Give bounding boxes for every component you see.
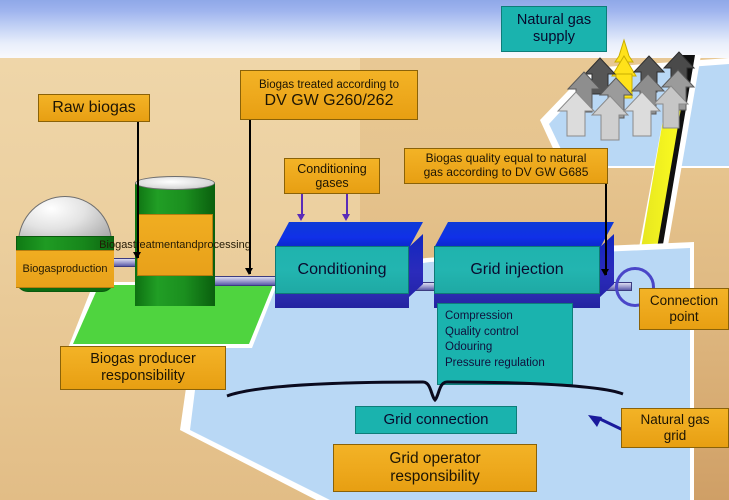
label-line-2: point [669,309,698,325]
label-raw-biogas: Raw biogas [38,94,150,122]
label-line-1: Connection [650,293,718,309]
label-line-1: Biogas producer [90,351,196,368]
biogas-treatment-line1: Biogas [99,239,133,252]
label-line-2: responsibility [390,468,480,486]
function-item: Compression [445,309,572,325]
label-conditioning-gases: Conditioning gases [284,158,380,194]
function-item: Quality control [445,325,572,341]
biogas-treatment-line3: and [179,239,197,252]
label-natural-gas-grid: Natural gas grid [621,408,729,448]
label-line-2: gas according to DV GW G685 [424,166,589,180]
biogas-production-label: Biogas production [16,250,114,288]
label-line-1: Biogas quality equal to natural [426,152,587,166]
function-item: Odouring [445,340,572,356]
label-grid-connection: Grid connection [355,406,517,434]
connector-biogas-quality [605,183,607,275]
label-connection-point: Connection point [639,288,729,330]
box-bottom-face [275,292,409,308]
box-top-face [275,222,423,248]
conditioning-unit: Conditioning [275,222,423,312]
label-line-2: supply [533,29,575,46]
arrow-down-icon [297,214,305,221]
label-line-2: responsibility [101,368,185,385]
label-line-2: gases [315,176,348,190]
label-line-1: Conditioning [297,162,367,176]
biogas-treatment-line4: processing [198,239,251,252]
connector-biogas-treated [249,119,251,274]
house-icon [558,92,594,136]
label-line-1: Grid operator [389,450,480,468]
label-line-1: Biogas treated according to [259,79,399,92]
function-item: Pressure regulation [445,356,572,372]
label-line-1: Natural gas [640,412,709,428]
grid-injection-label: Grid injection [434,246,600,294]
biogas-treatment-line2: treatment [133,239,179,252]
biogas-treatment-label: Biogas treatment and processing [137,214,213,276]
label-biogas-treated: Biogas treated according to DV GW G260/2… [240,70,418,120]
biogas-production-line1: Biogas [22,263,56,275]
arrow-down-icon [601,269,609,276]
arrow-down-icon [342,214,350,221]
label-line-1: Natural gas [517,12,591,29]
biogas-treatment-tank: Biogas treatment and processing [135,176,215,306]
diagram-canvas: Biogas production Biogas treatment and p… [0,0,729,500]
label-grid-operator-responsibility: Grid operator responsibility [333,444,537,492]
label-line-2: grid [664,428,687,444]
label-line-2: DV GW G260/262 [265,92,394,110]
label-biogas-producer-responsibility: Biogas producer responsibility [60,346,226,390]
conditioning-label: Conditioning [275,246,409,294]
label-natural-gas-supply: Natural gas supply [501,6,607,52]
arrow-down-icon [245,268,253,275]
label-biogas-quality: Biogas quality equal to natural gas acco… [404,148,608,184]
grid-injection-unit: Grid injection [434,222,614,312]
house-icon [654,86,688,128]
tank-top [135,176,215,190]
connector-raw-biogas [137,120,139,258]
box-top-face [434,222,614,248]
biogas-production-line2: production [56,263,107,275]
grid-injection-functions: Compression Quality control Odouring Pre… [437,303,573,385]
house-icon [592,96,628,140]
arrow-down-icon [133,252,141,259]
